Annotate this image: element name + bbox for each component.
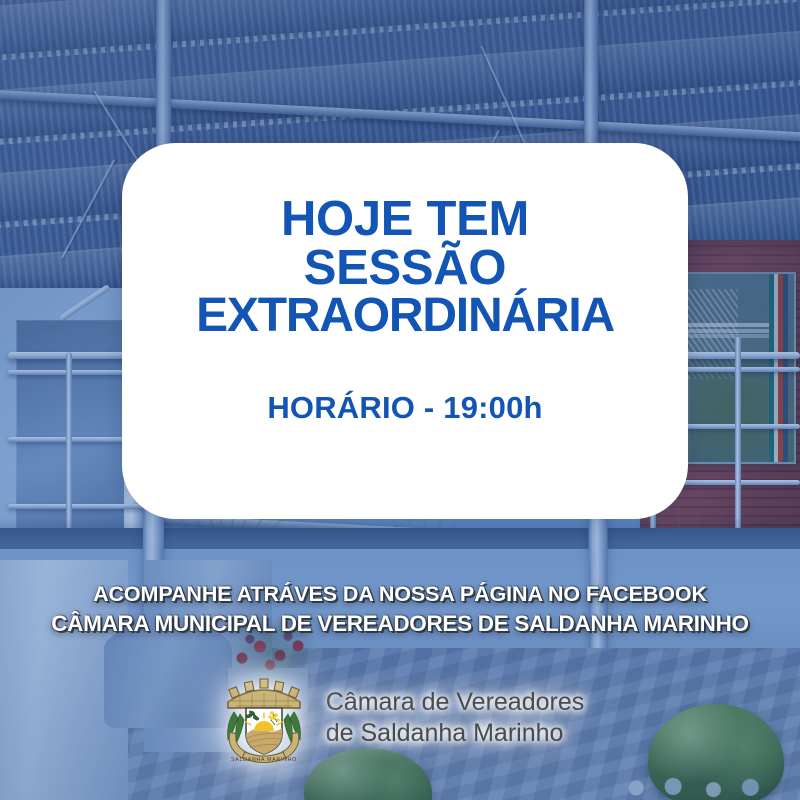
callout-text: ACOMPANHE ATRÁVES DA NOSSA PÁGINA NO FAC… (0, 580, 800, 640)
headline-line-3: EXTRAORDINÁRIA (196, 292, 614, 340)
headline-line-2: SESSÃO (196, 244, 614, 293)
event-poster: HOJE TEM SESSÃO EXTRAORDINÁRIA HORÁRIO -… (0, 0, 800, 800)
crest-motto: SALDANHA MARINHO (231, 757, 297, 763)
coat-of-arms-icon: SALDANHA MARINHO (216, 668, 312, 768)
event-time: HORÁRIO - 19:00h (267, 390, 542, 426)
headline-line-1: HOJE TEM (196, 195, 614, 244)
callout-line-2: CÂMARA MUNICIPAL DE VEREADORES DE SALDAN… (0, 609, 800, 640)
logo-text-line-1: Câmara de Vereadores (326, 687, 584, 718)
callout-line-1: ACOMPANHE ATRÁVES DA NOSSA PÁGINA NO FAC… (0, 580, 800, 609)
logo-text-line-2: de Saldanha Marinho (326, 718, 584, 749)
headline-block: HOJE TEM SESSÃO EXTRAORDINÁRIA (196, 195, 614, 340)
logo-text: Câmara de Vereadores de Saldanha Marinho (326, 687, 584, 749)
announcement-card: HOJE TEM SESSÃO EXTRAORDINÁRIA HORÁRIO -… (122, 143, 688, 519)
logo-lockup: SALDANHA MARINHO (0, 668, 800, 768)
